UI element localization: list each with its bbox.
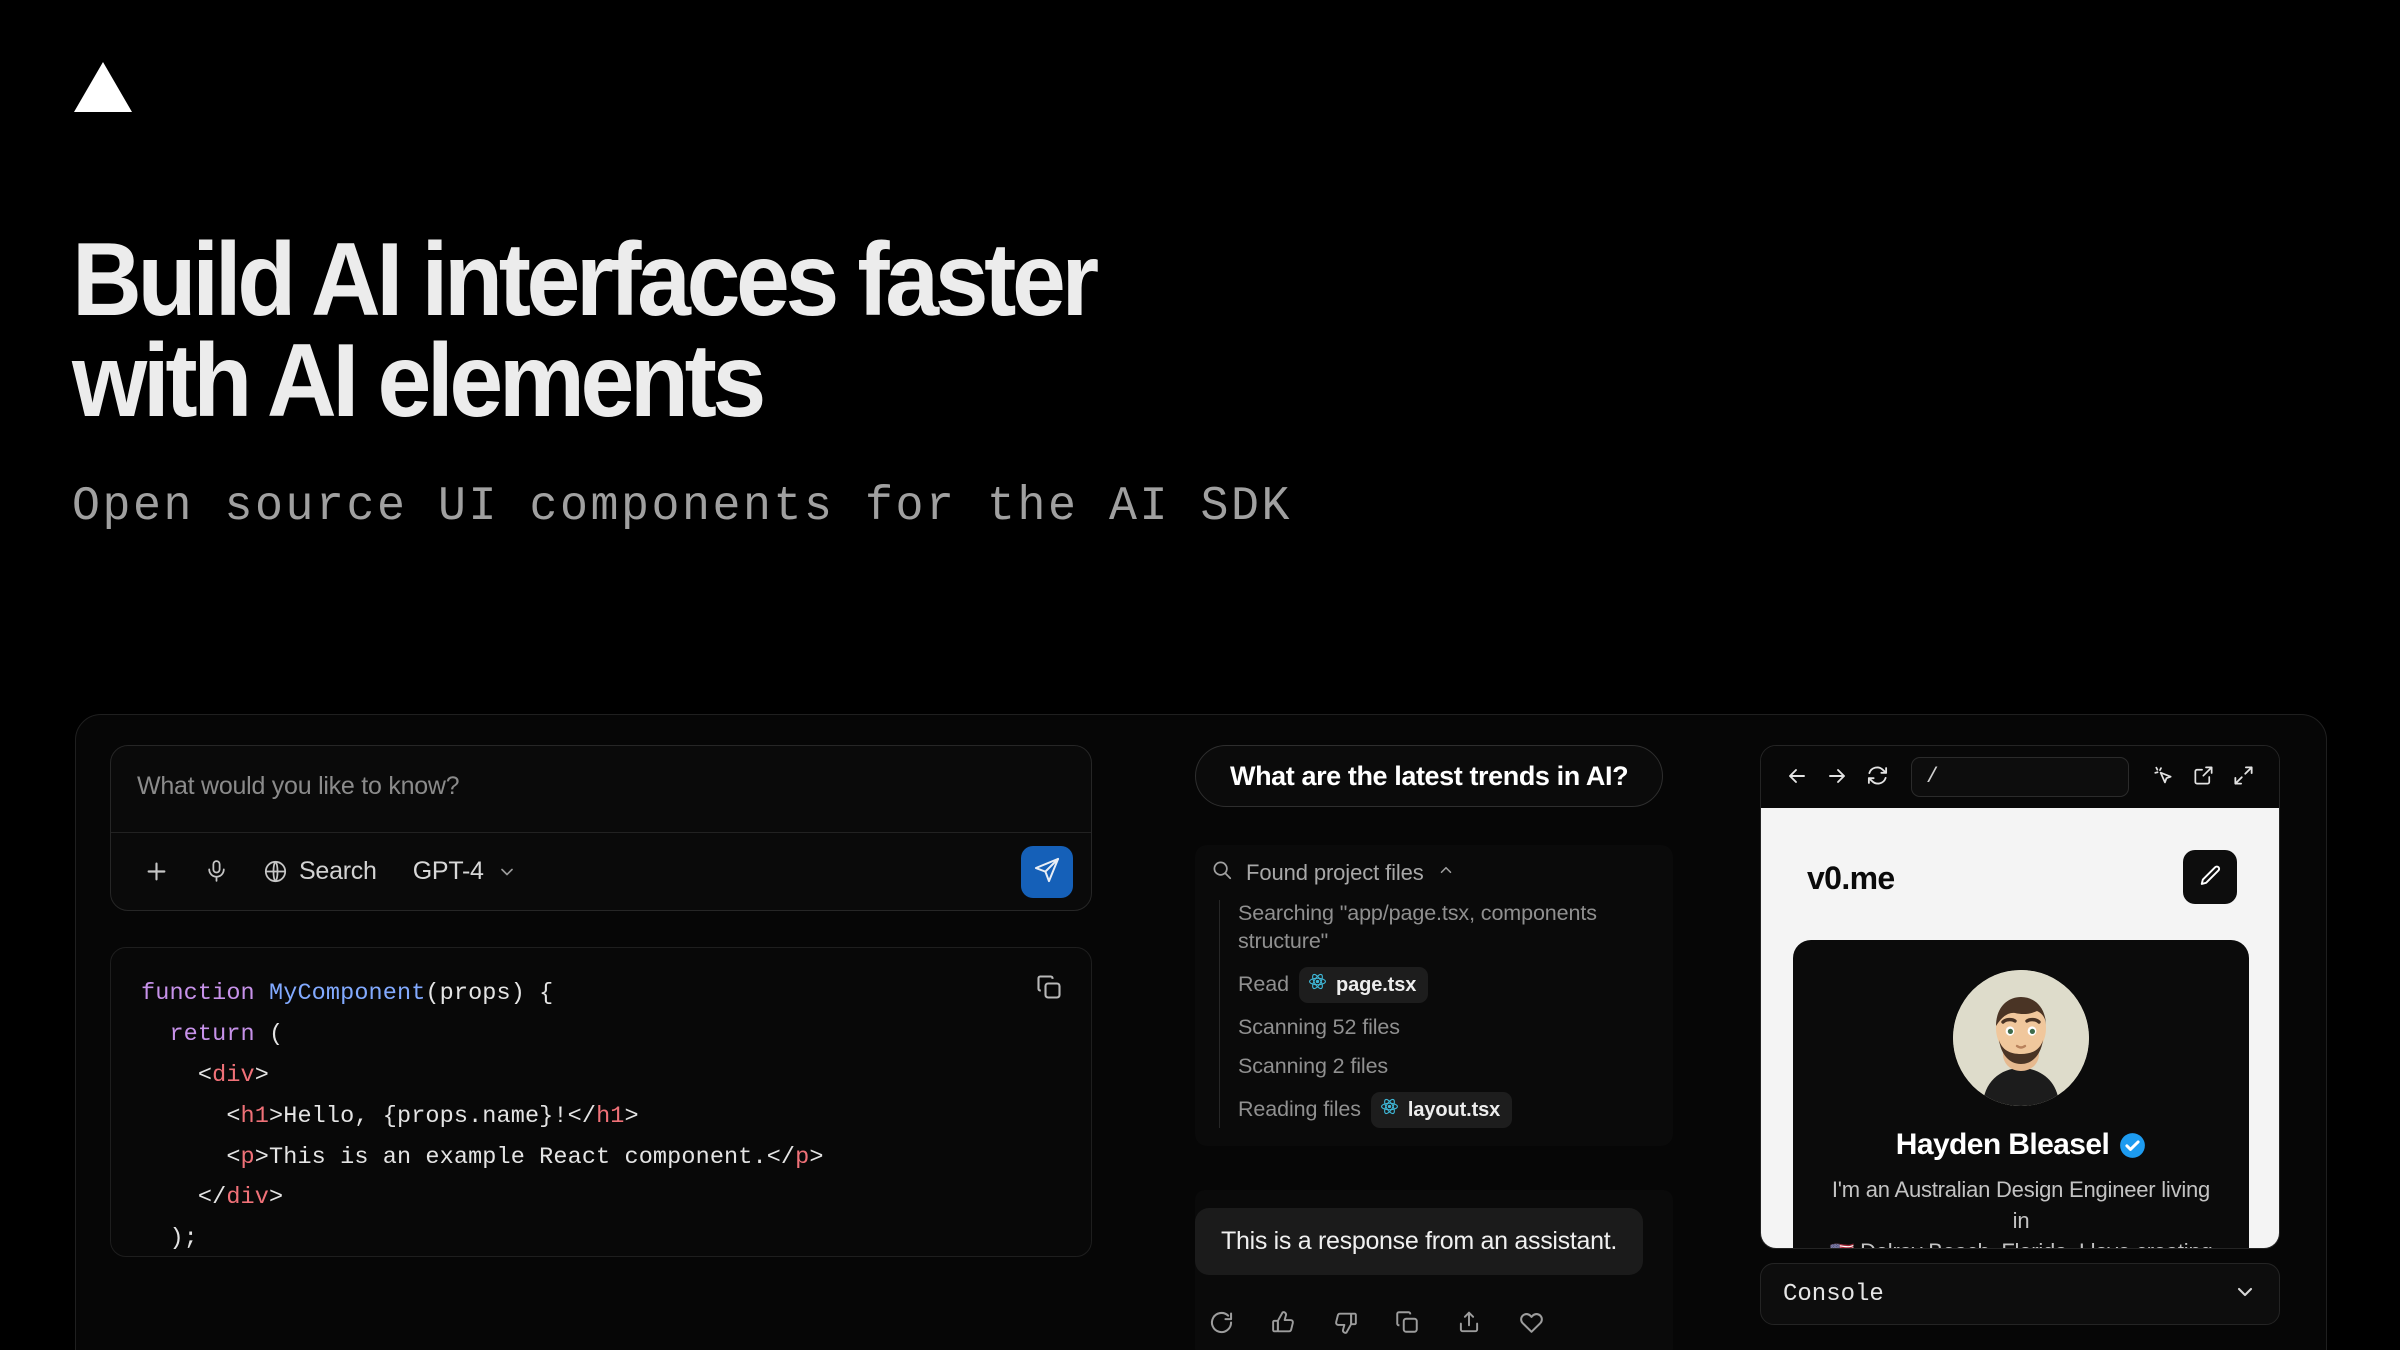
url-input[interactable]: / xyxy=(1911,757,2129,797)
open-external-button[interactable] xyxy=(2183,757,2223,797)
left-column: What would you like to know? xyxy=(110,745,1120,1350)
fullscreen-button[interactable] xyxy=(2223,757,2263,797)
web-preview-column: / xyxy=(1760,745,2280,1350)
model-selector[interactable]: GPT-4 xyxy=(401,846,529,898)
model-label: GPT-4 xyxy=(413,857,484,886)
copy-icon xyxy=(1035,973,1063,1004)
assistant-message: This is a response from an assistant. xyxy=(1195,1208,1643,1275)
hero-title-line-2: with AI elements xyxy=(72,331,1932,432)
hero-subtitle: Open source UI components for the AI SDK xyxy=(72,480,2012,534)
copy-code-button[interactable] xyxy=(1029,968,1069,1008)
vercel-triangle-logo[interactable] xyxy=(72,60,134,114)
profile-bio-line-1: I'm an Australian Design Engineer living… xyxy=(1832,1177,2210,1233)
chevron-up-icon[interactable] xyxy=(1437,861,1455,884)
profile-bio: I'm an Australian Design Engineer living… xyxy=(1823,1174,2219,1248)
reasoning-step-text: Read xyxy=(1238,971,1289,999)
favorite-button[interactable] xyxy=(1505,1301,1557,1347)
profile-card: Hayden Bleasel I'm an Australian Design … xyxy=(1793,940,2249,1248)
retry-icon xyxy=(1208,1309,1235,1339)
prompt-toolbar: Search GPT-4 xyxy=(111,832,1091,910)
reasoning-panel: Found project files Searching "app/page.… xyxy=(1195,845,1673,1146)
reasoning-step: Scanning 2 files xyxy=(1238,1053,1657,1081)
forward-button[interactable] xyxy=(1817,757,1857,797)
thumbs-up-button[interactable] xyxy=(1257,1301,1309,1347)
copy-message-button[interactable] xyxy=(1381,1301,1433,1347)
file-chip[interactable]: page.tsx xyxy=(1299,967,1428,1003)
expand-icon xyxy=(2232,764,2255,790)
profile-name-row: Hayden Bleasel xyxy=(1823,1128,2219,1162)
console-bar[interactable]: Console xyxy=(1760,1263,2280,1325)
reasoning-title: Found project files xyxy=(1246,860,1424,886)
file-chip-label: page.tsx xyxy=(1336,972,1416,998)
console-label: Console xyxy=(1783,1281,1884,1308)
reasoning-step-text: Scanning 2 files xyxy=(1238,1053,1388,1081)
chevron-down-icon[interactable] xyxy=(2233,1280,2257,1309)
heart-icon xyxy=(1518,1309,1545,1339)
send-button[interactable] xyxy=(1021,846,1073,898)
hero-title-line-1: Build AI interfaces faster xyxy=(72,222,1095,338)
reasoning-steps: Searching "app/page.tsx, components stru… xyxy=(1219,900,1657,1128)
assistant-message-block: This is a response from an assistant. xyxy=(1195,1190,1673,1350)
message-actions xyxy=(1195,1301,1673,1350)
arrow-left-icon xyxy=(1785,764,1809,791)
prompt-input-box[interactable]: What would you like to know? xyxy=(110,745,1092,911)
refresh-button[interactable] xyxy=(1857,757,1897,797)
reasoning-step: Reading files layout.tsx xyxy=(1238,1092,1657,1128)
pencil-edit-icon xyxy=(2197,863,2223,892)
components-showcase: What would you like to know? xyxy=(75,714,2327,1350)
web-search-toggle[interactable]: Search xyxy=(253,846,387,898)
search-label: Search xyxy=(299,857,377,886)
reasoning-step: Searching "app/page.tsx, components stru… xyxy=(1238,900,1657,956)
verified-badge-icon xyxy=(2119,1132,2146,1159)
cursor-click-icon xyxy=(2152,764,2175,790)
reasoning-step-text: Scanning 52 files xyxy=(1238,1014,1400,1042)
file-chip-label: layout.tsx xyxy=(1408,1097,1500,1123)
reasoning-header[interactable]: Found project files xyxy=(1211,859,1657,886)
share-button[interactable] xyxy=(1443,1301,1495,1347)
file-chip[interactable]: layout.tsx xyxy=(1371,1092,1512,1128)
prompt-input[interactable]: What would you like to know? xyxy=(111,746,1091,832)
thumbs-down-button[interactable] xyxy=(1319,1301,1371,1347)
microphone-button[interactable] xyxy=(194,846,239,898)
page-title: Build AI interfaces faster with AI eleme… xyxy=(72,230,1932,432)
profile-bio-line-2: Delray Beach, Florida. I love creating xyxy=(1860,1239,2212,1248)
share-icon xyxy=(1456,1309,1482,1338)
inspect-button[interactable] xyxy=(2143,757,2183,797)
reasoning-step-text: Searching "app/page.tsx, components stru… xyxy=(1238,900,1657,956)
plus-icon xyxy=(143,858,170,885)
web-preview: / xyxy=(1760,745,2280,1249)
reasoning-step-text: Reading files xyxy=(1238,1096,1361,1124)
preview-viewport: v0.me xyxy=(1761,808,2279,1248)
copy-icon xyxy=(1394,1309,1420,1338)
external-link-icon xyxy=(2192,764,2215,790)
react-logo-icon xyxy=(1308,972,1327,998)
chevron-down-icon xyxy=(497,862,517,882)
globe-icon xyxy=(263,859,288,884)
profile-name: Hayden Bleasel xyxy=(1896,1128,2109,1162)
arrow-right-icon xyxy=(1825,764,1849,791)
preview-toolbar: / xyxy=(1761,746,2279,808)
reasoning-step: Read page.tsx xyxy=(1238,967,1657,1003)
attach-button[interactable] xyxy=(133,846,180,898)
code-content: function MyComponent(props) { return ( <… xyxy=(141,974,1061,1257)
thumbs-up-icon xyxy=(1270,1309,1297,1339)
edit-button[interactable] xyxy=(2183,850,2237,904)
back-button[interactable] xyxy=(1777,757,1817,797)
site-name: v0.me xyxy=(1807,860,1895,897)
retry-button[interactable] xyxy=(1195,1301,1247,1347)
landing-page: Build AI interfaces faster with AI eleme… xyxy=(0,0,2400,1350)
search-icon xyxy=(1211,859,1233,886)
avatar xyxy=(1953,970,2089,1106)
suggestion-pill[interactable]: What are the latest trends in AI? xyxy=(1195,745,1663,807)
us-flag-icon: 🇺🇸 xyxy=(1830,1242,1855,1248)
hero-section: Build AI interfaces faster with AI eleme… xyxy=(72,230,2072,534)
code-block: function MyComponent(props) { return ( <… xyxy=(110,947,1092,1257)
microphone-icon xyxy=(204,859,229,884)
send-paper-plane-icon xyxy=(1033,856,1061,887)
conversation-column: What are the latest trends in AI? Found … xyxy=(1195,745,1675,1350)
thumbs-down-icon xyxy=(1332,1309,1359,1339)
refresh-icon xyxy=(1866,764,1889,790)
react-logo-icon xyxy=(1380,1097,1399,1123)
reasoning-step: Scanning 52 files xyxy=(1238,1014,1657,1042)
